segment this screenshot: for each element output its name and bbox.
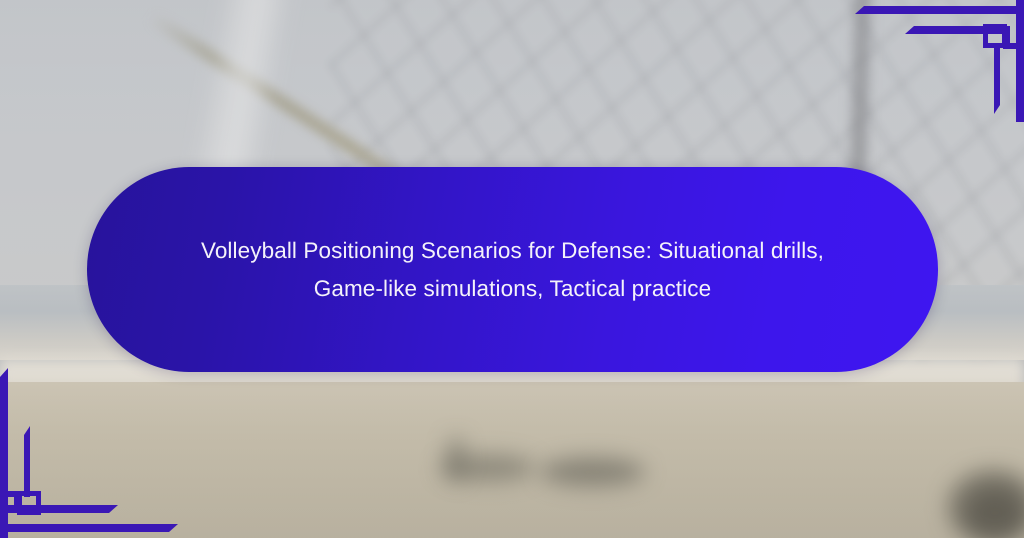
ornament-bar-right-edge [1016, 0, 1024, 122]
ornament-bracket [6, 491, 22, 497]
ornament-bracket [1003, 43, 1019, 49]
bottom-left-corner-ornament [0, 360, 300, 538]
banner-stage: Volleyball Positioning Scenarios for Def… [0, 0, 1024, 538]
ornament-bar-left-edge [0, 368, 8, 538]
title-card: Volleyball Positioning Scenarios for Def… [87, 167, 938, 372]
ornament-stem [24, 426, 30, 497]
page-title: Volleyball Positioning Scenarios for Def… [173, 232, 853, 308]
top-right-corner-ornament [0, 0, 1024, 130]
ornament-stem [994, 43, 1000, 114]
ornament-bar-outer-horizontal [0, 524, 178, 532]
ornament-bar-outer-horizontal [855, 6, 1017, 14]
